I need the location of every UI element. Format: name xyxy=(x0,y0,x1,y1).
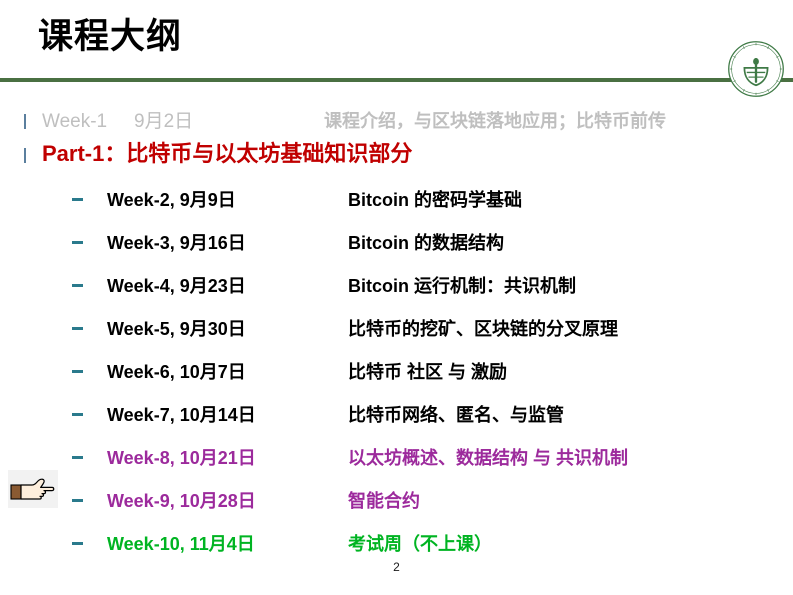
bullet-bar-icon xyxy=(24,148,26,163)
week-label: Week-5, 9月30日 xyxy=(107,315,348,341)
week-description: Bitcoin 的密码学基础 xyxy=(348,186,522,212)
week-description: 比特币网络、匿名、与监管 xyxy=(348,401,564,427)
list-item-week-8: Week-8, 10月21日 以太坊概述、数据结构 与 共识机制 xyxy=(72,444,782,470)
week-label: Week-2, 9月9日 xyxy=(107,186,348,212)
dash-bullet-icon xyxy=(72,542,83,545)
dash-bullet-icon xyxy=(72,413,83,416)
sun-yat-sen-university-logo xyxy=(727,40,785,98)
list-item-week-7: Week-7, 10月14日 比特币网络、匿名、与监管 xyxy=(72,401,782,427)
week-description: 课程介绍，与区块链落地应用；比特币前传 xyxy=(324,107,666,133)
week-label: Week-7, 10月14日 xyxy=(107,401,348,427)
list-item-week-3: Week-3, 9月16日 Bitcoin 的数据结构 xyxy=(72,229,782,255)
week-label: Week-6, 10月7日 xyxy=(107,358,348,384)
week-label: Week-1 xyxy=(42,111,134,133)
slide-canvas: 课程大纲 Week-1 9月2日 课程介绍，与区块链落地应用；比特币前传 xyxy=(0,0,793,595)
section-heading-part-1: Part-1：比特币与以太坊基础知识部分 xyxy=(24,136,784,168)
part-heading-label: Part-1：比特币与以太坊基础知识部分 xyxy=(42,136,412,168)
week-label: Week-4, 9月23日 xyxy=(107,272,348,298)
week-label: Week-8, 10月21日 xyxy=(107,444,348,470)
week-description: 以太坊概述、数据结构 与 共识机制 xyxy=(348,444,628,470)
dash-bullet-icon xyxy=(72,241,83,244)
list-item-week-1: Week-1 9月2日 课程介绍，与区块链落地应用；比特币前传 xyxy=(24,106,784,133)
list-item-week-9: Week-9, 10月28日 智能合约 xyxy=(72,487,782,513)
week-label: Week-10, 11月4日 xyxy=(107,530,348,556)
page-title: 课程大纲 xyxy=(38,16,182,58)
dash-bullet-icon xyxy=(72,198,83,201)
week-description: 智能合约 xyxy=(348,487,420,513)
week-date: 9月2日 xyxy=(134,106,324,133)
title-divider xyxy=(0,78,793,82)
week-label: Week-3, 9月16日 xyxy=(107,229,348,255)
dash-bullet-icon xyxy=(72,456,83,459)
week-description: Bitcoin 运行机制：共识机制 xyxy=(348,272,576,298)
list-item-week-2: Week-2, 9月9日 Bitcoin 的密码学基础 xyxy=(72,186,782,212)
list-item-week-10: Week-10, 11月4日 考试周（不上课） xyxy=(72,530,782,556)
week-description: 比特币 社区 与 激励 xyxy=(348,358,507,384)
dash-bullet-icon xyxy=(72,370,83,373)
week-description: 比特币的挖矿、区块链的分叉原理 xyxy=(348,315,618,341)
pointing-hand-icon xyxy=(8,470,58,508)
page-number: 2 xyxy=(0,560,793,574)
dash-bullet-icon xyxy=(72,284,83,287)
list-item-week-5: Week-5, 9月30日 比特币的挖矿、区块链的分叉原理 xyxy=(72,315,782,341)
dash-bullet-icon xyxy=(72,327,83,330)
week-description: 考试周（不上课） xyxy=(348,530,492,556)
week-label: Week-9, 10月28日 xyxy=(107,487,348,513)
week-description: Bitcoin 的数据结构 xyxy=(348,229,504,255)
bullet-bar-icon xyxy=(24,114,26,129)
list-item-week-4: Week-4, 9月23日 Bitcoin 运行机制：共识机制 xyxy=(72,272,782,298)
list-item-week-6: Week-6, 10月7日 比特币 社区 与 激励 xyxy=(72,358,782,384)
dash-bullet-icon xyxy=(72,499,83,502)
